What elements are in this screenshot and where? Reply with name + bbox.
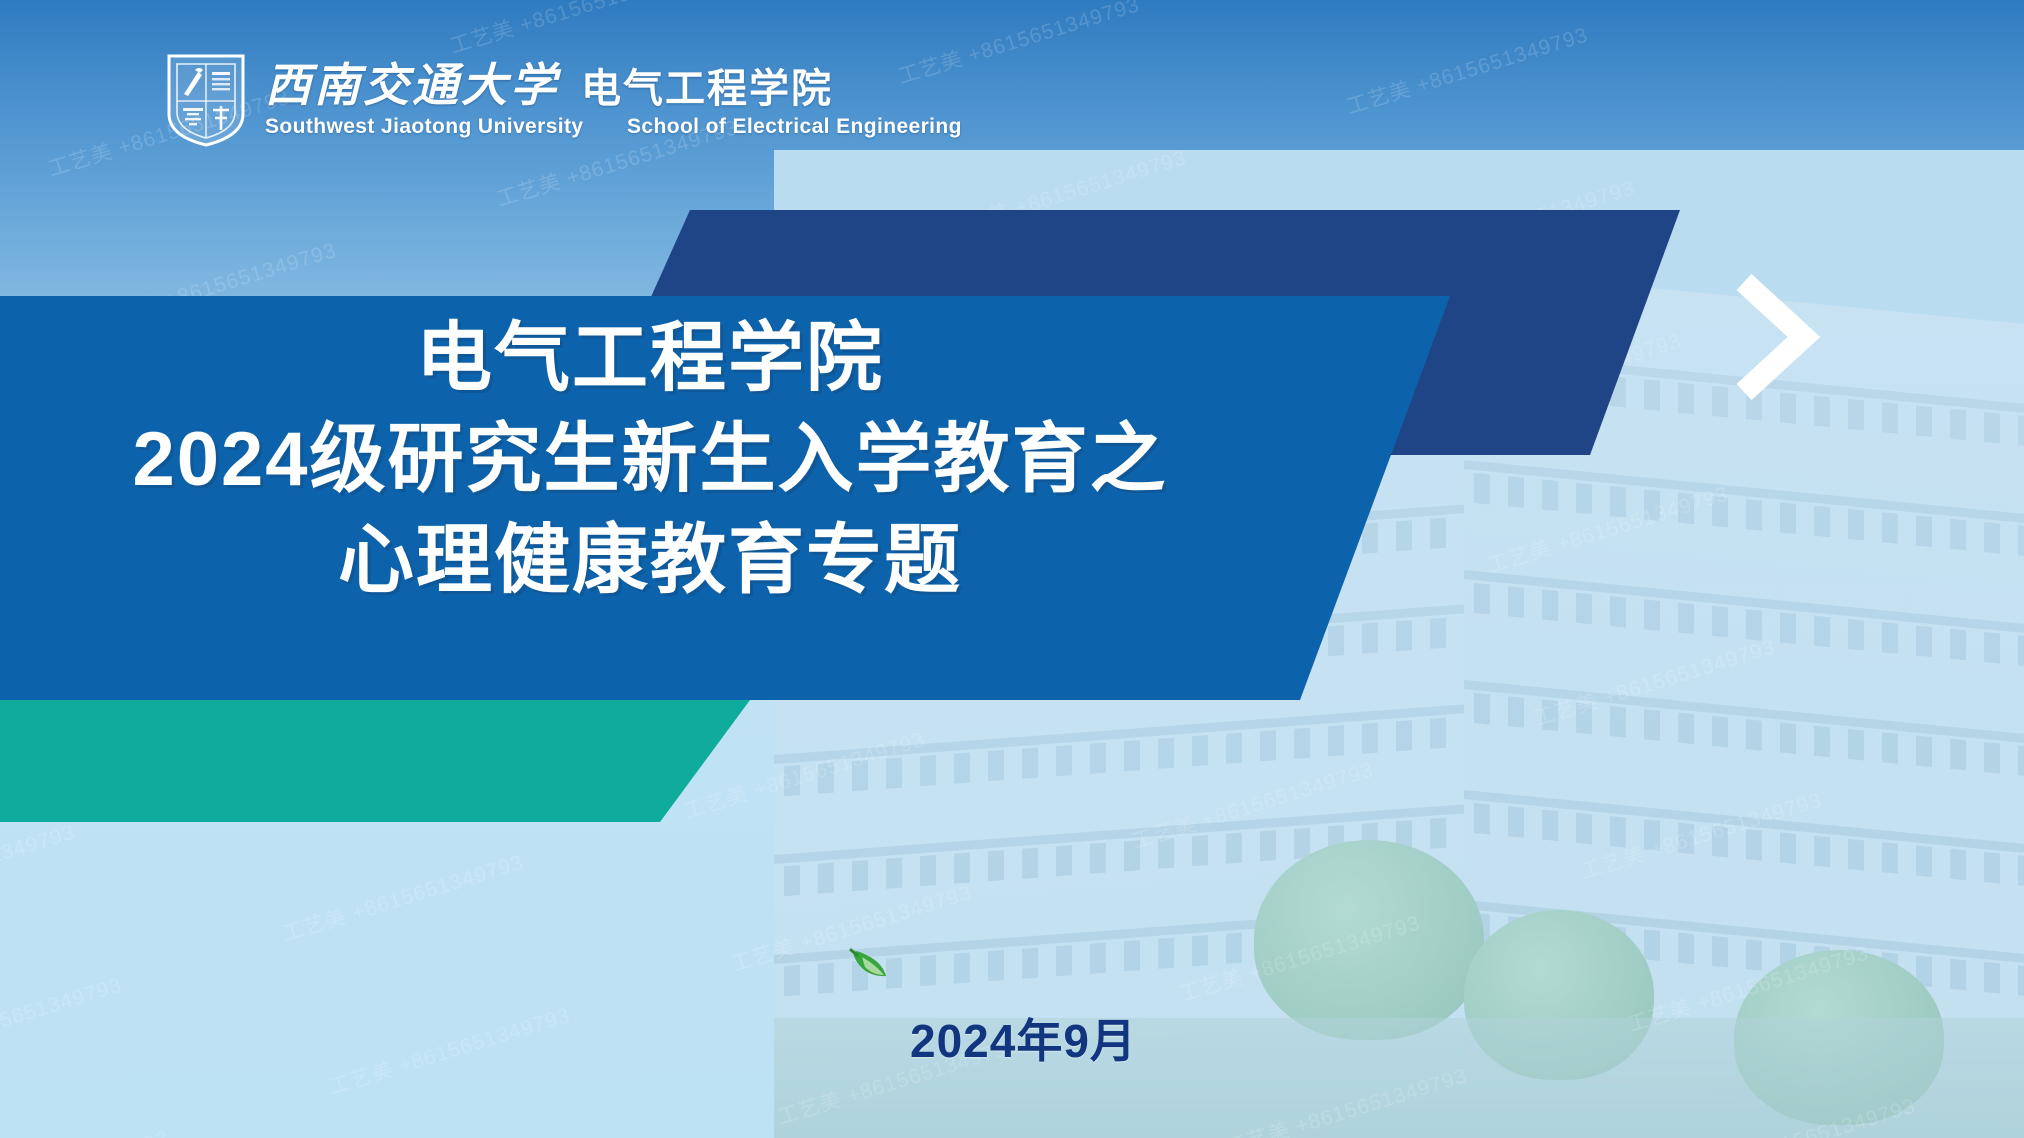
slide-date: 2024年9月	[910, 1005, 1137, 1071]
school-name-en: School of Electrical Engineering	[627, 116, 962, 137]
title-slide: 工艺美 +8615651349793工艺美 +8615651349793工艺美 …	[0, 0, 2024, 1138]
chevron-right-icon	[1730, 272, 1820, 402]
title-line-1: 电气工程学院	[416, 316, 884, 401]
school-name-cn: 电气工程学院	[581, 69, 833, 109]
title-line-3: 心理健康教育专题	[338, 518, 962, 603]
university-name-en: Southwest Jiaotong University	[265, 116, 605, 137]
title-line-2: 2024级研究生新生入学教育之	[132, 417, 1167, 502]
title-block: 电气工程学院 2024级研究生新生入学教育之 心理健康教育专题	[0, 296, 1300, 603]
teal-banner-shape	[0, 700, 750, 822]
leaf-icon	[848, 946, 890, 980]
university-name-cn: 西南交通大学	[265, 63, 559, 109]
university-logo: 西南交通大学 电气工程学院 Southwest Jiaotong Univers…	[165, 52, 962, 148]
swjtu-shield-crest-icon	[165, 52, 247, 148]
